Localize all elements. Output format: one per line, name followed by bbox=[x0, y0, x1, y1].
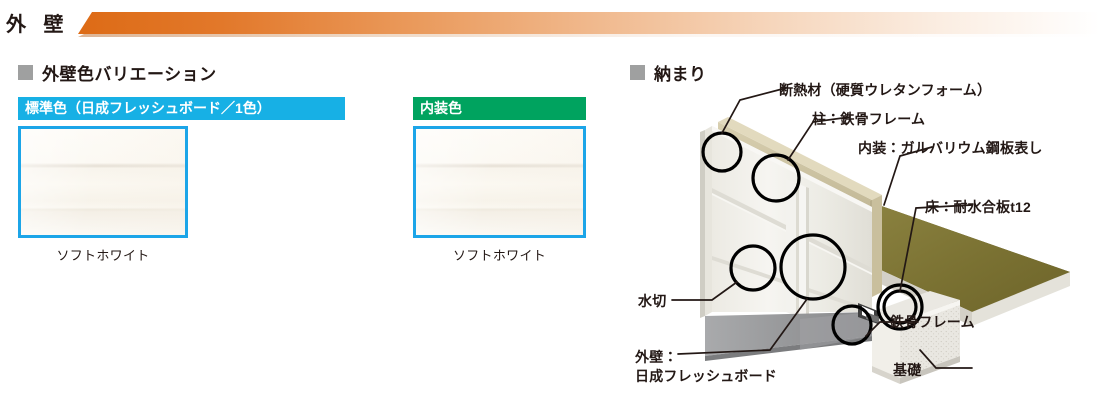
color-group-header-interior: 内装色 bbox=[413, 97, 586, 120]
callout-label-wall: 外壁： 日成フレッシュボード bbox=[635, 348, 777, 386]
page-header: 外 壁 bbox=[0, 0, 1100, 46]
callout-label-wall-line1: 外壁： bbox=[635, 349, 678, 365]
color-group-standard: 標準色（日成フレッシュボード／1色） ソフトホワイト bbox=[18, 97, 345, 264]
callout-label-foundation: 基礎 bbox=[893, 361, 921, 380]
callout-label-interior: 内装：ガルバリウム鋼板表し bbox=[858, 139, 1043, 158]
callout-label-drip: 水切 bbox=[638, 292, 666, 311]
page-title: 外 壁 bbox=[6, 8, 70, 37]
callout-label-wall-line2: 日成フレッシュボード bbox=[635, 368, 777, 384]
color-swatch-standard[interactable] bbox=[18, 126, 188, 238]
color-swatch-interior[interactable] bbox=[413, 126, 586, 238]
callout-label-floor: 床：耐水合板t12 bbox=[925, 198, 1031, 217]
color-swatch-caption-interior: ソフトホワイト bbox=[413, 245, 586, 264]
callout-label-frame: 鉄骨フレーム bbox=[890, 313, 975, 332]
header-accent-bar bbox=[78, 12, 1100, 34]
color-group-header-standard: 標準色（日成フレッシュボード／1色） bbox=[18, 97, 345, 120]
color-swatch-caption-standard: ソフトホワイト bbox=[18, 245, 188, 264]
section-heading-label: 外壁色バリエーション bbox=[42, 60, 217, 85]
callout-label-pillar: 柱：鉄骨フレーム bbox=[812, 110, 925, 129]
header-accent-bar-shadow bbox=[78, 34, 1100, 37]
color-group-interior: 内装色 ソフトホワイト bbox=[413, 97, 586, 264]
callout-label-insulation: 断熱材（硬質ウレタンフォーム） bbox=[779, 81, 991, 100]
square-bullet-icon bbox=[18, 65, 33, 80]
section-heading-color-variation: 外壁色バリエーション bbox=[18, 60, 217, 85]
